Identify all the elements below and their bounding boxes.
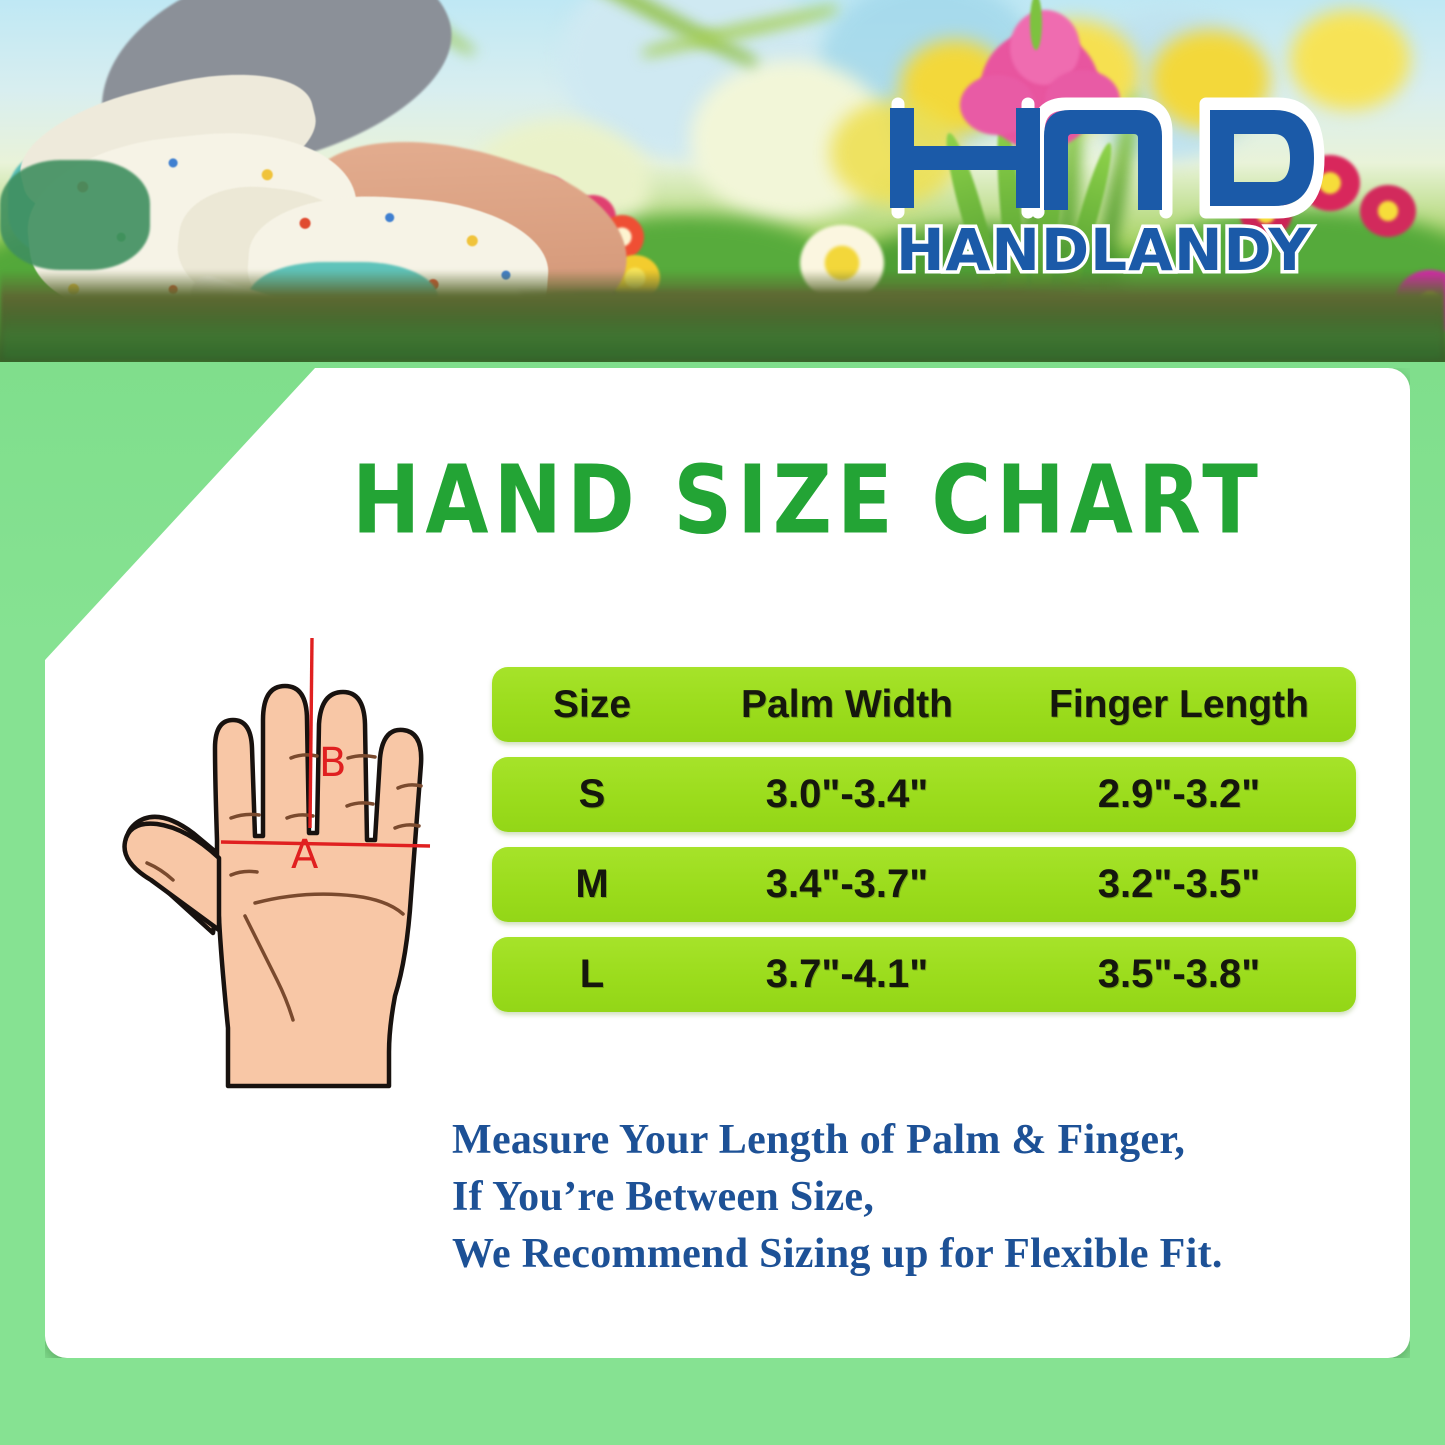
size-table: Size Palm Width Finger Length S 3.0"-3.4…: [492, 667, 1356, 1027]
hand-measurement-diagram: B A: [95, 628, 495, 1090]
cell-size: S: [492, 772, 692, 817]
handlandy-logo: HANDLANDY: [888, 92, 1358, 277]
cell-size: L: [492, 952, 692, 997]
column-header-size: Size: [492, 683, 692, 727]
note-line-3: We Recommend Sizing up for Flexible Fit.: [452, 1226, 1382, 1283]
label-a: A: [291, 832, 319, 878]
cell-palm-width: 3.4"-3.7": [692, 862, 1002, 907]
logo-wordmark: HANDLANDY: [896, 216, 1311, 277]
column-header-finger-length: Finger Length: [1002, 683, 1356, 727]
column-header-palm-width: Palm Width: [692, 683, 1002, 727]
page-title: HAND SIZE CHART: [352, 445, 1382, 555]
cell-finger-length: 3.2"-3.5": [1002, 862, 1356, 907]
note-line-1: Measure Your Length of Palm & Finger,: [452, 1112, 1382, 1169]
cell-finger-length: 2.9"-3.2": [1002, 772, 1356, 817]
cell-finger-length: 3.5"-3.8": [1002, 952, 1356, 997]
cell-size: M: [492, 862, 692, 907]
table-row: L 3.7"-4.1" 3.5"-3.8": [492, 937, 1356, 1012]
finger-length-line: [310, 638, 312, 828]
table-row: S 3.0"-3.4" 2.9"-3.2": [492, 757, 1356, 832]
size-chart-page: HANDLANDY HAND SIZE CHART: [0, 0, 1445, 1445]
label-b: B: [319, 740, 346, 786]
table-header-row: Size Palm Width Finger Length: [492, 667, 1356, 742]
sizing-note: Measure Your Length of Palm & Finger, If…: [452, 1112, 1382, 1283]
note-line-2: If You’re Between Size,: [452, 1169, 1382, 1226]
table-row: M 3.4"-3.7" 3.2"-3.5": [492, 847, 1356, 922]
cell-palm-width: 3.7"-4.1": [692, 952, 1002, 997]
cell-palm-width: 3.0"-3.4": [692, 772, 1002, 817]
